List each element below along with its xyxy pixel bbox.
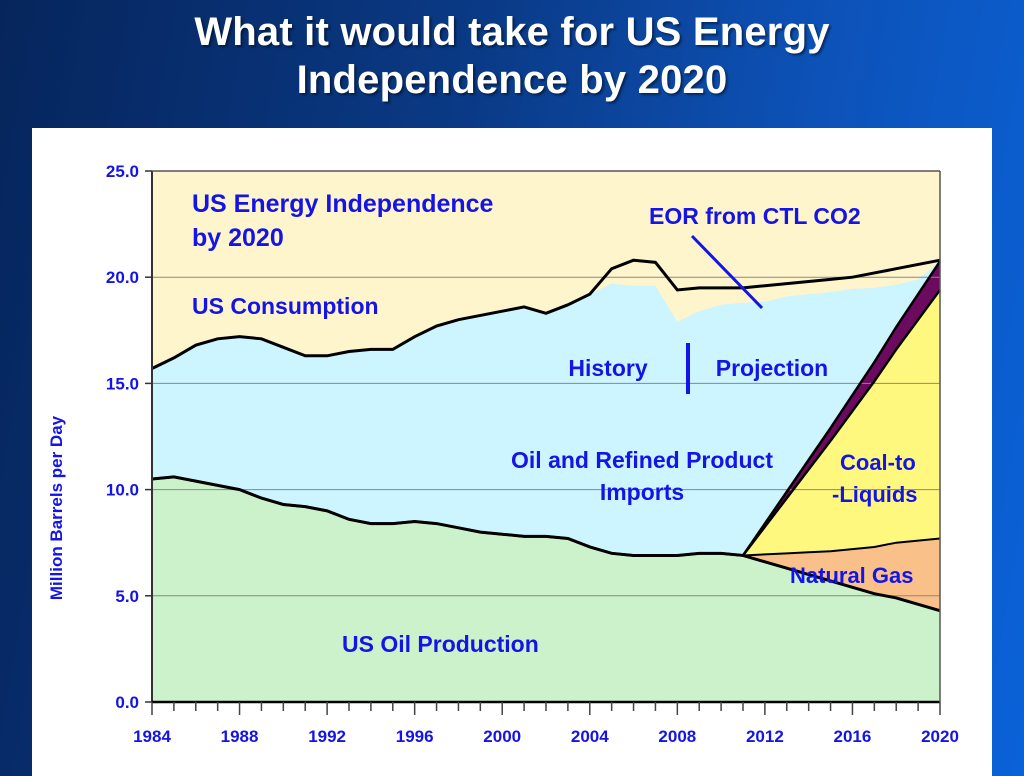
chart-panel: 0.05.010.015.020.025.0 19841988199219962… (32, 128, 992, 776)
y-tick-label: 15.0 (106, 374, 139, 393)
coal-to-liquids-label-line1: Coal-to (840, 450, 916, 475)
imports-label-line1: Oil and Refined Product (511, 447, 773, 473)
us-consumption-label: US Consumption (192, 293, 379, 319)
x-tick-label: 2000 (483, 727, 521, 746)
headline-label-line2: by 2020 (192, 224, 284, 252)
x-tick-label: 1988 (221, 727, 259, 746)
imports-label-line2: Imports (600, 479, 684, 505)
x-tick-label: 2020 (921, 727, 959, 746)
coal-to-liquids-label-line2: -Liquids (832, 482, 918, 507)
history-label: History (568, 355, 647, 381)
slide-title: What it would take for US Energy Indepen… (0, 8, 1024, 104)
slide-title-line2: Independence by 2020 (0, 56, 1024, 104)
y-tick-label: 20.0 (106, 268, 139, 287)
slide-root: What it would take for US Energy Indepen… (0, 0, 1024, 776)
eor-from-ctl-co2-label: EOR from CTL CO2 (649, 203, 861, 229)
y-tick-label: 5.0 (115, 587, 139, 606)
projection-label: Projection (716, 355, 828, 381)
x-tick-label: 2016 (834, 727, 872, 746)
us-oil-production-label: US Oil Production (342, 631, 539, 657)
x-tick-label: 2004 (571, 727, 609, 746)
headline-label-line1: US Energy Independence (192, 190, 494, 218)
x-tick-label: 1992 (308, 727, 346, 746)
x-axis-ticks: 1984198819921996200020042008201220162020 (133, 702, 959, 746)
x-tick-label: 1996 (396, 727, 434, 746)
y-axis-title: Million Barrels per Day (47, 415, 66, 600)
x-tick-label: 1984 (133, 727, 171, 746)
x-tick-label: 2008 (658, 727, 696, 746)
y-axis-ticks: 0.05.010.015.020.025.0 (106, 162, 152, 712)
y-tick-label: 10.0 (106, 481, 139, 500)
slide-title-line1: What it would take for US Energy (0, 8, 1024, 56)
natural-gas-label: Natural Gas (790, 563, 914, 588)
y-tick-label: 0.0 (115, 693, 139, 712)
x-tick-label: 2012 (746, 727, 784, 746)
y-tick-label: 25.0 (106, 162, 139, 181)
energy-independence-area-chart: 0.05.010.015.020.025.0 19841988199219962… (32, 128, 992, 776)
